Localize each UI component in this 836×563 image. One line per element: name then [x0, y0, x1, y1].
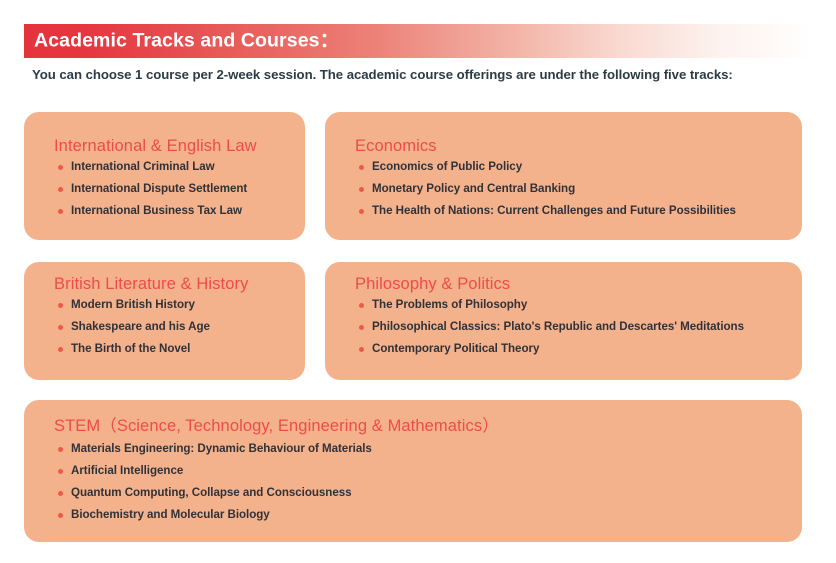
track-title: Economics: [355, 138, 437, 155]
course-item: International Dispute Settlement: [56, 183, 247, 195]
course-item: The Health of Nations: Current Challenge…: [357, 205, 736, 217]
course-label: Biochemistry and Molecular Biology: [71, 508, 270, 521]
page-title: Academic Tracks and Courses：: [34, 31, 339, 51]
bullet-icon: [359, 187, 364, 192]
course-label: International Dispute Settlement: [71, 182, 247, 195]
course-label: Economics of Public Policy: [372, 160, 522, 173]
academic-tracks-page: Academic Tracks and Courses： You can cho…: [0, 0, 836, 563]
course-item: Biochemistry and Molecular Biology: [56, 509, 372, 521]
bullet-icon: [58, 187, 63, 192]
course-item: Philosophical Classics: Plato's Republic…: [357, 321, 744, 333]
bullet-icon: [359, 165, 364, 170]
bullet-icon: [58, 469, 63, 474]
bullet-icon: [359, 303, 364, 308]
bullet-icon: [58, 303, 63, 308]
track-card-philosophy-politics: Philosophy & Politics The Problems of Ph…: [325, 262, 802, 380]
track-title: International & English Law: [54, 138, 257, 155]
track-title: STEM（Science, Technology, Engineering & …: [54, 418, 499, 435]
course-label: The Problems of Philosophy: [372, 298, 527, 311]
course-label: Monetary Policy and Central Banking: [372, 182, 575, 195]
course-item: Quantum Computing, Collapse and Consciou…: [56, 487, 372, 499]
course-item: Monetary Policy and Central Banking: [357, 183, 736, 195]
course-label: International Business Tax Law: [71, 204, 242, 217]
bullet-icon: [58, 165, 63, 170]
bullet-icon: [58, 491, 63, 496]
bullet-icon: [359, 209, 364, 214]
course-label: International Criminal Law: [71, 160, 215, 173]
course-item: International Business Tax Law: [56, 205, 247, 217]
bullet-icon: [58, 347, 63, 352]
bullet-icon: [58, 209, 63, 214]
track-card-economics: Economics Economics of Public Policy Mon…: [325, 112, 802, 240]
course-item: Materials Engineering: Dynamic Behaviour…: [56, 443, 372, 455]
track-title: British Literature & History: [54, 276, 248, 293]
course-list: International Criminal Law International…: [56, 161, 247, 227]
course-label: Shakespeare and his Age: [71, 320, 210, 333]
course-item: Modern British History: [56, 299, 210, 311]
track-card-british-literature-history: British Literature & History Modern Brit…: [24, 262, 305, 380]
course-label: The Health of Nations: Current Challenge…: [372, 204, 736, 217]
course-label: Artificial Intelligence: [71, 464, 183, 477]
track-card-stem: STEM（Science, Technology, Engineering & …: [24, 400, 802, 542]
course-item: Economics of Public Policy: [357, 161, 736, 173]
course-item: Shakespeare and his Age: [56, 321, 210, 333]
course-list: Modern British History Shakespeare and h…: [56, 299, 210, 365]
course-item: The Problems of Philosophy: [357, 299, 744, 311]
track-title: Philosophy & Politics: [355, 276, 510, 293]
course-label: The Birth of the Novel: [71, 342, 190, 355]
course-label: Modern British History: [71, 298, 195, 311]
header-banner: Academic Tracks and Courses：: [24, 24, 812, 58]
course-label: Philosophical Classics: Plato's Republic…: [372, 320, 744, 333]
course-label: Quantum Computing, Collapse and Consciou…: [71, 486, 352, 499]
bullet-icon: [359, 325, 364, 330]
course-list: The Problems of Philosophy Philosophical…: [357, 299, 744, 365]
course-item: Contemporary Political Theory: [357, 343, 744, 355]
bullet-icon: [359, 347, 364, 352]
course-label: Materials Engineering: Dynamic Behaviour…: [71, 442, 372, 455]
bullet-icon: [58, 325, 63, 330]
bullet-icon: [58, 447, 63, 452]
course-item: Artificial Intelligence: [56, 465, 372, 477]
bullet-icon: [58, 513, 63, 518]
course-list: Economics of Public Policy Monetary Poli…: [357, 161, 736, 227]
course-item: International Criminal Law: [56, 161, 247, 173]
course-item: The Birth of the Novel: [56, 343, 210, 355]
intro-text: You can choose 1 course per 2-week sessi…: [32, 66, 733, 83]
track-card-international-english-law: International & English Law Internationa…: [24, 112, 305, 240]
course-label: Contemporary Political Theory: [372, 342, 539, 355]
course-list: Materials Engineering: Dynamic Behaviour…: [56, 443, 372, 531]
